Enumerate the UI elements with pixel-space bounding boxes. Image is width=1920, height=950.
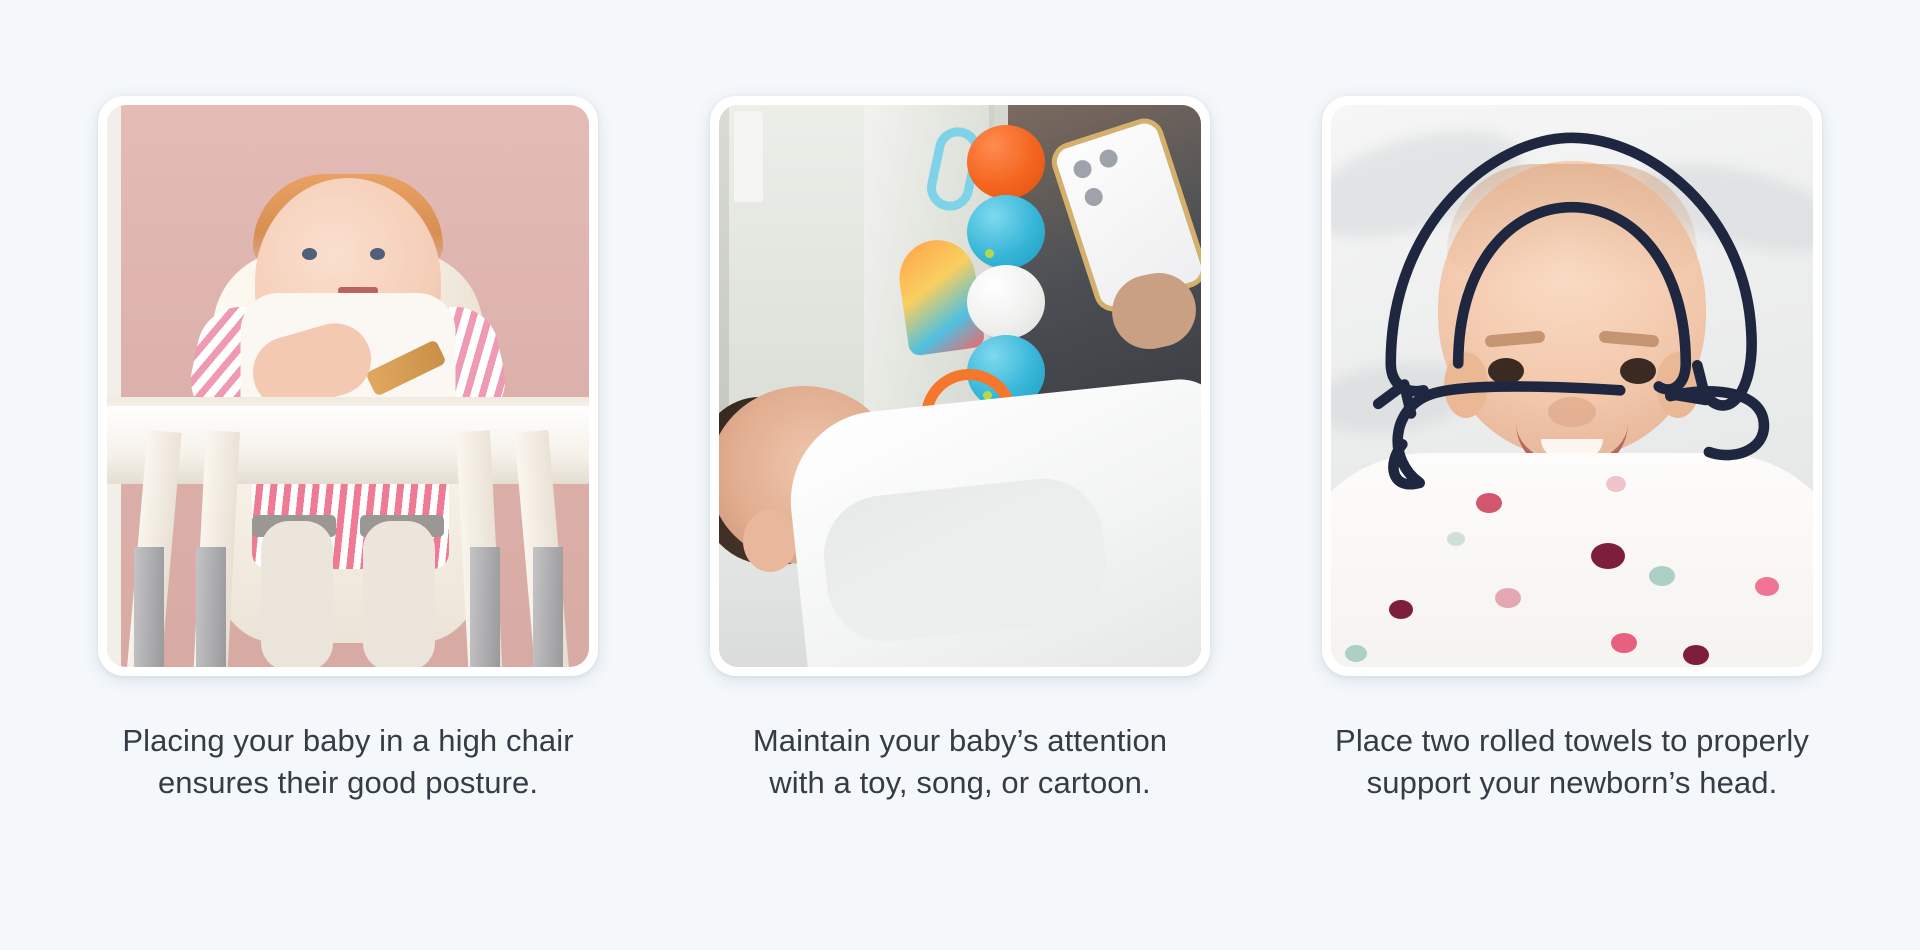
caption-line-1: Place two rolled towels to properly (1332, 720, 1812, 762)
baby-leg-left (261, 521, 333, 667)
baby-leg-right (363, 521, 435, 667)
tip-card-high-chair[interactable]: Placing your baby in a high chair ensure… (98, 96, 598, 804)
toy-bead-blue (967, 195, 1045, 269)
tip-caption-high-chair: Placing your baby in a high chair ensure… (108, 720, 588, 804)
tip-card-attention-toy[interactable]: Maintain your baby’s attention with a to… (710, 96, 1210, 804)
window-pane (734, 111, 763, 202)
baby-in-high-chair-photo (107, 105, 589, 667)
tips-gallery: Placing your baby in a high chair ensure… (0, 0, 1920, 950)
camera-lens (1082, 186, 1105, 209)
high-chair-foot-inner-right (470, 547, 500, 667)
camera-lens (1097, 148, 1120, 171)
tip-caption-attention-toy: Maintain your baby’s attention with a to… (720, 720, 1200, 804)
photo-frame-attention-toy[interactable] (710, 96, 1210, 676)
caption-line-1: Placing your baby in a high chair (108, 720, 588, 762)
baby-ear (743, 510, 797, 572)
high-chair-foot-outer-right (533, 547, 563, 667)
baby-with-towel-arrows-photo (1331, 105, 1813, 667)
high-chair-foot-inner-left (196, 547, 226, 667)
toy-bead-orange (967, 125, 1045, 199)
caption-line-1: Maintain your baby’s attention (720, 720, 1200, 762)
caption-line-2: support your newborn’s head. (1332, 762, 1812, 804)
bead-speck (985, 249, 994, 258)
high-chair-foot-outer-left (134, 547, 164, 667)
rolled-towel-placement-arrows (1331, 105, 1813, 664)
tip-card-rolled-towels[interactable]: Place two rolled towels to properly supp… (1322, 96, 1822, 804)
tip-caption-rolled-towels: Place two rolled towels to properly supp… (1332, 720, 1812, 804)
window (729, 105, 874, 408)
photo-frame-high-chair[interactable] (98, 96, 598, 676)
toy-bead-white (967, 265, 1045, 339)
wall-edge (107, 105, 121, 667)
baby-eye-right (370, 248, 385, 260)
photo-frame-rolled-towels[interactable] (1322, 96, 1822, 676)
caption-line-2: with a toy, song, or cartoon. (720, 762, 1200, 804)
caption-line-2: ensures their good posture. (108, 762, 588, 804)
camera-lens (1071, 158, 1094, 181)
baby-with-hanging-toy-photo (719, 105, 1201, 667)
